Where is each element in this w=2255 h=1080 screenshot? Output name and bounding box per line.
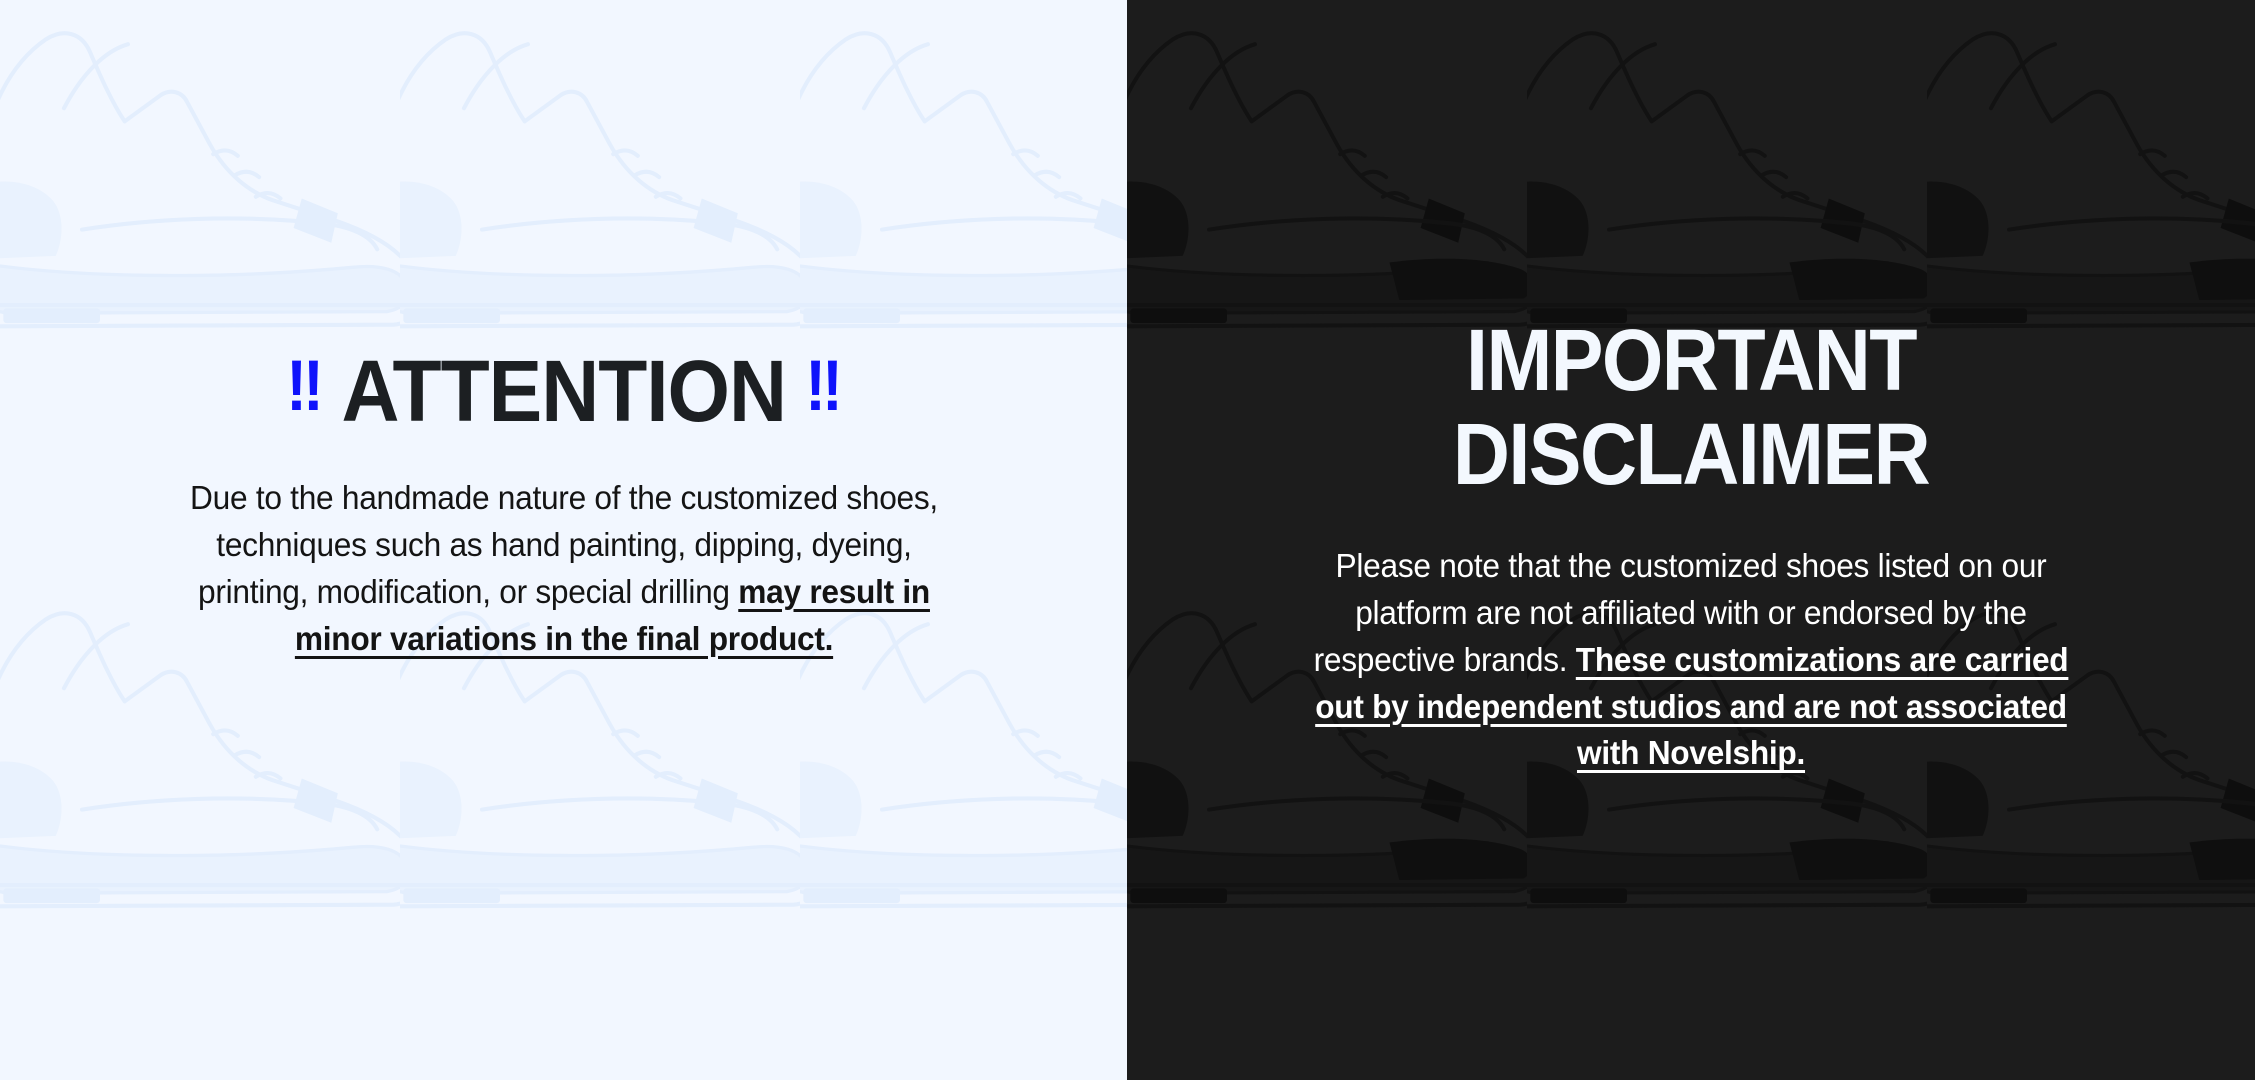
disclaimer-heading-line-2: DISCLAIMER — [1146, 410, 2236, 499]
disclaimer-body: Please note that the customized shoes li… — [1293, 543, 2090, 777]
attention-heading-text: ATTENTION — [341, 347, 785, 434]
disclaimer-content: IMPORTANT DISCLAIMER Please note that th… — [1127, 322, 2255, 777]
important-disclaimer-panel: IMPORTANT DISCLAIMER Please note that th… — [1127, 0, 2255, 1080]
disclaimer-heading: IMPORTANT DISCLAIMER — [1167, 322, 2215, 493]
double-exclamation-icon-right: ‼ — [805, 351, 840, 422]
disclaimer-heading-line-1: IMPORTANT — [1146, 316, 2236, 405]
disclaimer-banner: ‼ ATTENTION ‼ Due to the handmade nature… — [0, 0, 2255, 1080]
attention-body: Due to the handmade nature of the custom… — [184, 475, 942, 662]
attention-heading: ‼ ATTENTION ‼ — [40, 352, 1087, 430]
double-exclamation-icon-left: ‼ — [286, 351, 321, 422]
attention-panel: ‼ ATTENTION ‼ Due to the handmade nature… — [0, 0, 1127, 1080]
attention-content: ‼ ATTENTION ‼ Due to the handmade nature… — [0, 352, 1127, 662]
